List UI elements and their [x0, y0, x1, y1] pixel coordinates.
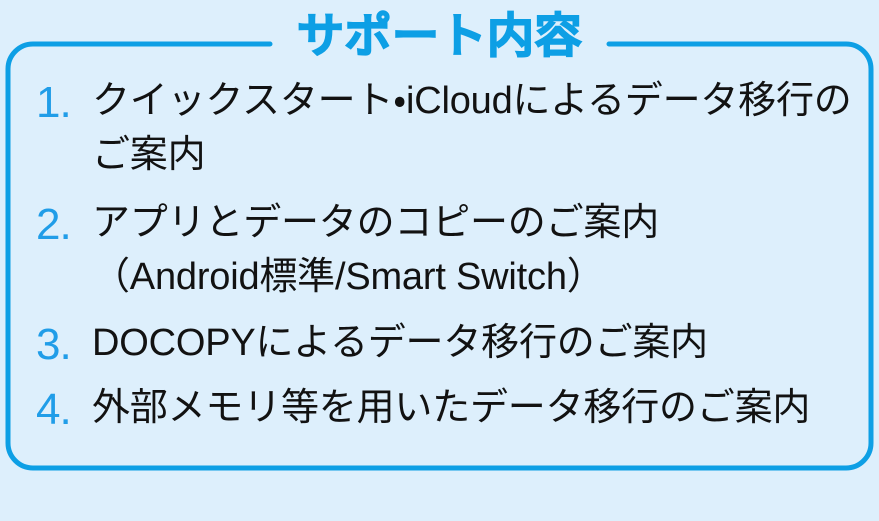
list-item-text: アプリとデータのコピーのご案内 （Android標準/Smart Switch）: [92, 196, 856, 304]
list-item-marker: 1.: [36, 74, 92, 131]
list-item: 3. DOCOPYによるデータ移行のご案内: [36, 316, 856, 373]
page-title: サポート内容: [0, 8, 879, 64]
list-item-text: DOCOPYによるデータ移行のご案内: [92, 316, 856, 370]
list-item: 1. クイックスタート・iCloudによるデータ移行の ご案内: [36, 74, 856, 182]
list-item-marker: 2.: [36, 196, 92, 253]
list-item-marker: 4.: [36, 381, 92, 438]
list-item: 2. アプリとデータのコピーのご案内 （Android標準/Smart Swit…: [36, 196, 856, 304]
list-item-line: （Android標準/Smart Switch）: [92, 250, 856, 304]
list-item-marker: 3.: [36, 316, 92, 373]
list-item-text: 外部メモリ等を用いたデータ移行のご案内: [92, 381, 856, 435]
support-items-list: 1. クイックスタート・iCloudによるデータ移行の ご案内 2. アプリとデ…: [36, 74, 856, 438]
list-item-line: ご案内: [92, 128, 856, 182]
support-content-card: サポート内容 1. クイックスタート・iCloudによるデータ移行の ご案内 2…: [0, 0, 879, 521]
list-item-line: クイックスタート・iCloudによるデータ移行の: [92, 74, 856, 128]
list-item-line: アプリとデータのコピーのご案内: [92, 196, 856, 250]
list-item-line: 外部メモリ等を用いたデータ移行のご案内: [92, 381, 856, 435]
list-item: 4. 外部メモリ等を用いたデータ移行のご案内: [36, 381, 856, 438]
list-item-text: クイックスタート・iCloudによるデータ移行の ご案内: [92, 74, 856, 182]
list-item-line: DOCOPYによるデータ移行のご案内: [92, 316, 856, 370]
